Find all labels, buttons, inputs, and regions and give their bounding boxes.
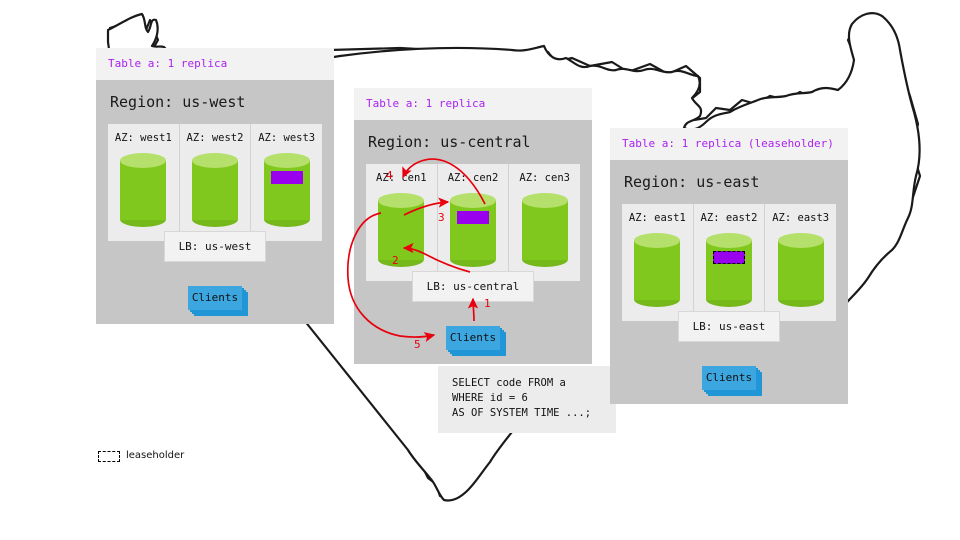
cylinder-body bbox=[522, 200, 568, 260]
clients-stack-us-west[interactable]: Clients bbox=[188, 286, 242, 310]
az-label-cen1: AZ: cen1 bbox=[376, 173, 427, 184]
flow-step-number-1: 1 bbox=[484, 298, 491, 309]
az-row-us-west: AZ: west1 AZ: west2 AZ bbox=[108, 124, 322, 241]
node-cylinder-cen3[interactable] bbox=[522, 193, 568, 267]
load-balancer-us-east[interactable]: LB: us-east bbox=[678, 311, 781, 342]
cylinder-body bbox=[120, 160, 166, 220]
cylinder-top bbox=[192, 153, 238, 168]
az-label-west1: AZ: west1 bbox=[115, 133, 172, 144]
replica-badge-cen2[interactable] bbox=[457, 211, 489, 224]
clients-label-us-east: Clients bbox=[702, 366, 756, 390]
clients-wrap-us-west: Clients bbox=[108, 286, 322, 310]
node-cylinder-east2[interactable] bbox=[706, 233, 752, 307]
flow-step-number-4: 4 bbox=[386, 170, 393, 181]
clients-stack-us-east[interactable]: Clients bbox=[702, 366, 756, 390]
cylinder-body bbox=[264, 160, 310, 220]
clients-wrap-us-central: Clients bbox=[366, 326, 580, 350]
lb-wrap-us-east: LB: us-east bbox=[622, 311, 836, 342]
region-title-us-central: Region: us-central bbox=[366, 120, 580, 164]
legend: leaseholder bbox=[98, 450, 184, 462]
az-label-east3: AZ: east3 bbox=[772, 213, 829, 224]
cylinder-body bbox=[706, 240, 752, 300]
clients-stack-us-central[interactable]: Clients bbox=[446, 326, 500, 350]
node-cylinder-west2[interactable] bbox=[192, 153, 238, 227]
az-label-east1: AZ: east1 bbox=[629, 213, 686, 224]
flow-step-number-3: 3 bbox=[438, 212, 445, 223]
flow-step-number-2: 2 bbox=[392, 255, 399, 266]
lb-wrap-us-central: LB: us-central bbox=[366, 271, 580, 302]
node-cylinder-cen2[interactable] bbox=[450, 193, 496, 267]
node-cylinder-east3[interactable] bbox=[778, 233, 824, 307]
az-cell-west3[interactable]: AZ: west3 bbox=[250, 124, 322, 241]
region-title-us-west: Region: us-west bbox=[108, 80, 322, 124]
cylinder-top bbox=[778, 233, 824, 248]
region-panel-us-central: Table a: 1 replica Region: us-central AZ… bbox=[354, 88, 592, 364]
flow-step-number-5: 5 bbox=[414, 339, 421, 350]
region-panel-us-east: Table a: 1 replica (leaseholder) Region:… bbox=[610, 128, 848, 404]
cylinder-body bbox=[450, 200, 496, 260]
az-cell-cen2[interactable]: AZ: cen2 bbox=[437, 164, 509, 281]
cylinder-top bbox=[706, 233, 752, 248]
az-cell-west2[interactable]: AZ: west2 bbox=[179, 124, 251, 241]
node-cylinder-west1[interactable] bbox=[120, 153, 166, 227]
region-body-us-central: Region: us-central AZ: cen1 AZ: cen2 bbox=[354, 120, 592, 364]
az-label-east2: AZ: east2 bbox=[701, 213, 758, 224]
cylinder-body bbox=[634, 240, 680, 300]
cylinder-body bbox=[378, 200, 424, 260]
cylinder-top bbox=[522, 193, 568, 208]
az-label-west2: AZ: west2 bbox=[187, 133, 244, 144]
az-cell-cen3[interactable]: AZ: cen3 bbox=[508, 164, 580, 281]
cylinder-top bbox=[120, 153, 166, 168]
region-panel-us-west: Table a: 1 replica Region: us-west AZ: w… bbox=[96, 48, 334, 324]
region-body-us-east: Region: us-east AZ: east1 AZ: east2 bbox=[610, 160, 848, 404]
node-cylinder-west3[interactable] bbox=[264, 153, 310, 227]
load-balancer-us-central[interactable]: LB: us-central bbox=[412, 271, 535, 302]
diagram-canvas: Table a: 1 replica Region: us-west AZ: w… bbox=[0, 0, 960, 540]
az-label-cen2: AZ: cen2 bbox=[448, 173, 499, 184]
cylinder-top bbox=[450, 193, 496, 208]
node-cylinder-cen1[interactable] bbox=[378, 193, 424, 267]
az-cell-cen1[interactable]: AZ: cen1 bbox=[366, 164, 437, 281]
legend-label: leaseholder bbox=[126, 450, 184, 462]
node-cylinder-east1[interactable] bbox=[634, 233, 680, 307]
dashed-rect-icon bbox=[98, 451, 120, 462]
cylinder-top bbox=[634, 233, 680, 248]
clients-wrap-us-east: Clients bbox=[622, 366, 836, 390]
cylinder-top bbox=[378, 193, 424, 208]
sql-query-box: SELECT code FROM a WHERE id = 6 AS OF SY… bbox=[438, 366, 616, 433]
cylinder-top bbox=[264, 153, 310, 168]
region-body-us-west: Region: us-west AZ: west1 AZ: west2 bbox=[96, 80, 334, 324]
az-cell-east1[interactable]: AZ: east1 bbox=[622, 204, 693, 321]
table-header-us-central: Table a: 1 replica bbox=[354, 88, 592, 120]
region-title-us-east: Region: us-east bbox=[622, 160, 836, 204]
az-cell-west1[interactable]: AZ: west1 bbox=[108, 124, 179, 241]
clients-label-us-central: Clients bbox=[446, 326, 500, 350]
replica-badge-leaseholder-east2[interactable] bbox=[713, 251, 745, 264]
az-cell-east2[interactable]: AZ: east2 bbox=[693, 204, 765, 321]
az-label-west3: AZ: west3 bbox=[258, 133, 315, 144]
az-label-cen3: AZ: cen3 bbox=[519, 173, 570, 184]
table-header-us-west: Table a: 1 replica bbox=[96, 48, 334, 80]
load-balancer-us-west[interactable]: LB: us-west bbox=[164, 231, 267, 262]
cylinder-body bbox=[192, 160, 238, 220]
az-row-us-east: AZ: east1 AZ: east2 bbox=[622, 204, 836, 321]
replica-badge-west3[interactable] bbox=[271, 171, 303, 184]
az-cell-east3[interactable]: AZ: east3 bbox=[764, 204, 836, 321]
clients-label-us-west: Clients bbox=[188, 286, 242, 310]
lb-wrap-us-west: LB: us-west bbox=[108, 231, 322, 262]
cylinder-body bbox=[778, 240, 824, 300]
table-header-us-east: Table a: 1 replica (leaseholder) bbox=[610, 128, 848, 160]
